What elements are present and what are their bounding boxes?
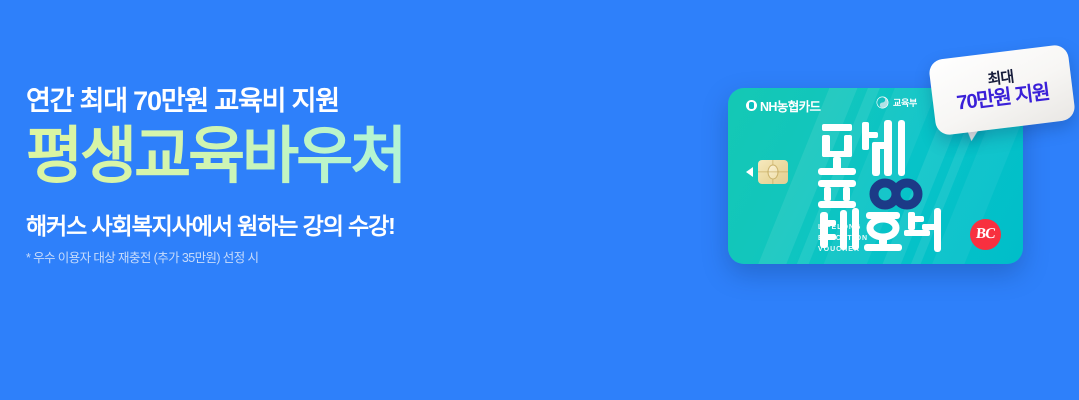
card-chip-row xyxy=(746,160,788,184)
chip-contact-oval xyxy=(768,165,779,180)
banner-subheadline: 해커스 사회복지사에서 원하는 강의 수강! xyxy=(26,213,546,241)
nh-bell-icon xyxy=(746,100,757,111)
ministry-of-education-logo: 교육부 xyxy=(876,96,917,109)
bc-card-network-label: BC xyxy=(975,227,995,242)
promo-banner: 연간 최대 70만원 교육비 지원 평생교육바우처 해커스 사회복지사에서 원하… xyxy=(0,0,1079,400)
emv-chip-icon xyxy=(758,160,788,184)
banner-eyebrow: 연간 최대 70만원 교육비 지원 xyxy=(26,86,546,117)
bubble-line-2: 70만원 지원 xyxy=(956,82,1051,114)
banner-copy-block: 연간 최대 70만원 교육비 지원 평생교육바우처 해커스 사회복지사에서 원하… xyxy=(26,86,546,266)
nh-card-logo: NH농협카드 xyxy=(746,96,820,115)
promo-bubble: 최대 70만원 지원 xyxy=(932,52,1074,150)
nh-card-logo-label: NH농협카드 xyxy=(760,96,820,115)
taegeuk-icon xyxy=(876,96,889,109)
insert-arrow-icon xyxy=(746,167,753,177)
banner-footnote: * 우수 이용자 대상 재충전 (추가 35만원) 선정 시 xyxy=(26,251,546,266)
logo-subtitle-line1: LIFELONG xyxy=(818,224,861,231)
bc-card-network-logo: BC xyxy=(970,219,1001,250)
bubble-body: 최대 70만원 지원 xyxy=(928,44,1076,136)
logo-subtitle-line3: VOUCHER xyxy=(818,246,860,253)
banner-headline: 평생교육바우처 xyxy=(26,124,546,191)
ministry-of-education-label: 교육부 xyxy=(893,96,917,109)
logo-subtitle-line2: EDUCATION xyxy=(818,235,868,242)
